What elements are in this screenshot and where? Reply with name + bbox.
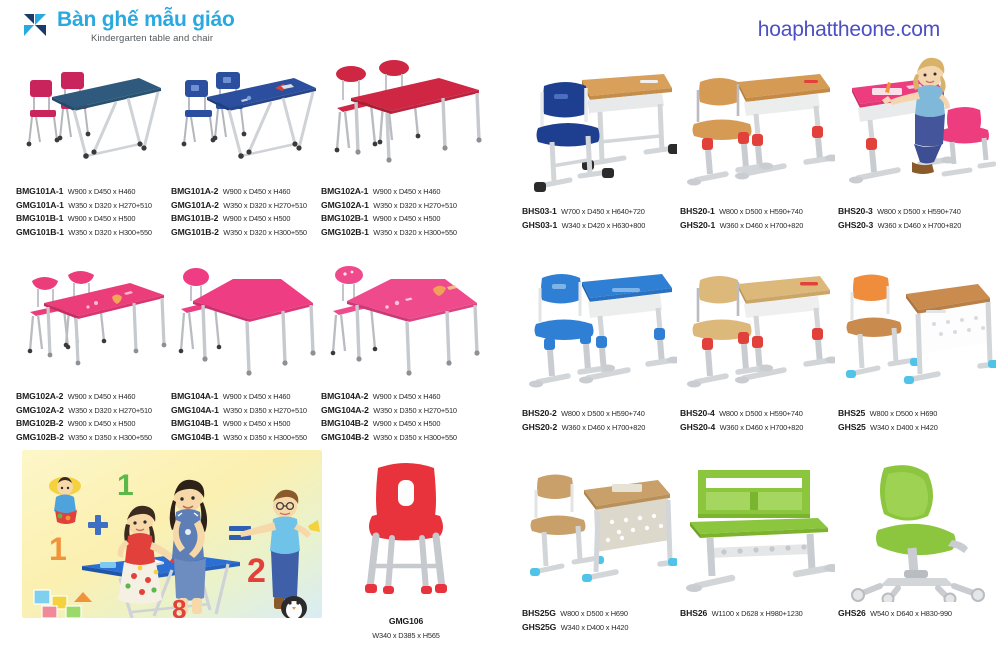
spec-code: BMG102A-2: [16, 391, 63, 401]
spec-code: BHS25: [838, 408, 865, 418]
spec-list: BHS03-1 W700 x D450 x H640+720 GHS03-1 W…: [522, 204, 677, 231]
spec-dim: W800 x D500 x H690: [870, 409, 938, 418]
svg-text:1: 1: [49, 531, 67, 567]
spec-row: GMG102B-1 W350 x D320 x H300+550: [321, 225, 486, 239]
spec-dim: W900 x D450 x H500: [223, 419, 291, 428]
spec-row: GMG104B-2 W350 x D350 x H300+550: [321, 430, 486, 444]
spec-dim: W340 x D400 x H420: [561, 623, 629, 632]
spec-code: GMG106: [389, 616, 423, 626]
product-image-red-plastic-chair: [326, 450, 486, 610]
spec-code: BHS20-2: [522, 408, 557, 418]
spec-dim: W340 x D385 x H565: [372, 631, 440, 640]
product-card-bhs25[interactable]: BHS25 W800 x D500 x H690 GHS25 W340 x D4…: [838, 252, 996, 433]
spec-row: BHS20-1 W800 x D500 x H590+740: [680, 204, 835, 218]
product-image-blue-printed-table-blue-chairs: [171, 52, 323, 180]
product-card-bmg102a1[interactable]: BMG102A-1 W900 x D450 x H460 GMG102A-1 W…: [321, 52, 486, 238]
spec-row: BMG102B-1 W900 x D450 x H500: [321, 211, 486, 225]
spec-dim: W800 x D500 x H590+740: [719, 207, 803, 216]
spec-row: BMG101A-1 W900 x D450 x H460: [16, 184, 168, 198]
spec-row: W340 x D385 x H565: [326, 628, 486, 642]
spec-dim: W900 x D450 x H460: [223, 392, 291, 401]
spec-dim: W350 x D320 x H300+550: [223, 228, 307, 237]
spec-dim: W340 x D400 x H420: [870, 423, 938, 432]
spec-code: GMG102B-2: [16, 432, 64, 442]
product-card-bhs20-3[interactable]: BHS20-3 W800 x D500 x H590+740 GHS20-3 W…: [838, 52, 996, 231]
spec-code: BHS03-1: [522, 206, 557, 216]
spec-code: BMG104B-2: [321, 418, 368, 428]
product-image-red-table-red-chairs: [321, 52, 486, 180]
spec-row: GHS25G W340 x D400 x H420: [522, 620, 677, 634]
product-card-ghs26[interactable]: GHS26 W540 x D640 x H830-990: [838, 452, 996, 620]
spec-row: GMG104A-2 W350 x D350 x H270+510: [321, 403, 486, 417]
spec-code: BHS20-4: [680, 408, 715, 418]
spec-dim: W900 x D450 x H500: [373, 419, 441, 428]
spec-code: BMG104B-1: [171, 418, 218, 428]
spec-row: GMG106: [326, 614, 486, 628]
spec-dim: W350 x D350 x H270+510: [223, 406, 307, 415]
spec-dim: W900 x D450 x H460: [373, 392, 441, 401]
spec-dim: W900 x D450 x H500: [223, 214, 291, 223]
spec-code: BMG104A-1: [171, 391, 218, 401]
product-image-pink-trapezoid-table: [171, 257, 323, 385]
spec-list: BHS26 W1100 x D628 x H980+1230: [680, 606, 835, 620]
spec-row: GMG102B-2 W350 x D350 x H300+550: [16, 430, 168, 444]
product-card-bmg101a2[interactable]: BMG101A-2 W900 x D450 x H460 GMG101A-2 W…: [171, 52, 323, 238]
spec-row: GHS20-2 W360 x D460 x H700+820: [522, 420, 677, 434]
spec-row: GMG104B-1 W350 x D350 x H300+550: [171, 430, 323, 444]
page-header: Bàn ghế mẫu giáo Kindergarten table and …: [0, 0, 1000, 52]
spec-row: BHS25 W800 x D500 x H690: [838, 406, 996, 420]
spec-dim: W350 x D320 x H270+510: [68, 406, 152, 415]
spec-code: BMG101B-1: [16, 213, 63, 223]
spec-code: BHS26: [680, 608, 707, 618]
spec-row: BHS20-4 W800 x D500 x H590+740: [680, 406, 835, 420]
spec-list: BHS20-3 W800 x D500 x H590+740 GHS20-3 W…: [838, 204, 996, 231]
spec-dim: W350 x D320 x H300+550: [373, 228, 457, 237]
pinwheel-logo-icon: [22, 12, 48, 38]
spec-row: BMG104A-2 W900 x D450 x H460: [321, 389, 486, 403]
product-card-bhs03-1[interactable]: BHS03-1 W700 x D450 x H640+720 GHS03-1 W…: [522, 52, 677, 231]
spec-code: GHS20-1: [680, 220, 715, 230]
product-image-pink-printed-trapezoid-table: [321, 257, 486, 385]
spec-row: BMG104B-1 W900 x D450 x H500: [171, 416, 323, 430]
spec-code: BMG104A-2: [321, 391, 368, 401]
product-card-bmg104a1[interactable]: BMG104A-1 W900 x D450 x H460 GMG104A-1 W…: [171, 257, 323, 443]
spec-code: GMG102A-1: [321, 200, 369, 210]
spec-list: GHS26 W540 x D640 x H830-990: [838, 606, 996, 620]
svg-text:8: 8: [172, 594, 186, 618]
spec-row: GMG102A-2 W350 x D320 x H270+510: [16, 403, 168, 417]
spec-dim: W350 x D320 x H270+510: [223, 201, 307, 210]
product-image-light-wood-adjustable-desk: [680, 252, 835, 402]
spec-code: BHS25G: [522, 608, 556, 618]
spec-code: GHS20-3: [838, 220, 873, 230]
product-image-blue-adjustable-desk: [522, 252, 677, 402]
product-image-green-desk-with-hutch: [680, 452, 835, 602]
spec-row: BMG102B-2 W900 x D450 x H500: [16, 416, 168, 430]
spec-dim: W350 x D320 x H270+510: [68, 201, 152, 210]
spec-code: BMG101A-2: [171, 186, 218, 196]
spec-dim: W350 x D350 x H300+550: [373, 433, 457, 442]
spec-dim: W900 x D450 x H460: [373, 187, 441, 196]
spec-row: GMG101B-1 W350 x D320 x H300+550: [16, 225, 168, 239]
product-image-wood-desk-perforated-panel: [522, 452, 677, 602]
spec-dim: W540 x D640 x H830-990: [870, 609, 952, 618]
product-image-blue-table-pink-chairs: [16, 52, 168, 180]
spec-row: BMG102A-1 W900 x D450 x H460: [321, 184, 486, 198]
spec-code: GHS25: [838, 422, 866, 432]
spec-code: BHS20-3: [838, 206, 873, 216]
product-card-bhs25g[interactable]: BHS25G W800 x D500 x H690 GHS25G W340 x …: [522, 452, 677, 633]
spec-row: GMG101B-2 W350 x D320 x H300+550: [171, 225, 323, 239]
spec-dim: W360 x D460 x H700+820: [720, 423, 804, 432]
spec-dim: W350 x D350 x H270+510: [373, 406, 457, 415]
spec-row: GHS26 W540 x D640 x H830-990: [838, 606, 996, 620]
spec-row: GMG102A-1 W350 x D320 x H270+510: [321, 198, 486, 212]
spec-row: BHS20-2 W800 x D500 x H590+740: [522, 406, 677, 420]
spec-list: BMG104A-2 W900 x D450 x H460 GMG104A-2 W…: [321, 389, 486, 443]
page-subtitle: Kindergarten table and chair: [91, 33, 235, 45]
spec-dim: W900 x D450 x H500: [68, 214, 136, 223]
spec-code: GMG102B-1: [321, 227, 369, 237]
spec-dim: W700 x D450 x H640+720: [561, 207, 645, 216]
product-card-bhs20-1[interactable]: BHS20-1 W800 x D500 x H590+740 GHS20-1 W…: [680, 52, 835, 231]
spec-list: BMG102A-1 W900 x D450 x H460 GMG102A-1 W…: [321, 184, 486, 238]
school-furniture-section: BHS03-1 W700 x D450 x H640+720 GHS03-1 W…: [512, 52, 1000, 664]
spec-row: BMG101B-2 W900 x D450 x H500: [171, 211, 323, 225]
spec-list: GMG106 W340 x D385 x H565: [326, 614, 486, 641]
product-image-wood-desk-navy-chair: [522, 52, 677, 200]
spec-dim: W800 x D500 x H590+740: [877, 207, 961, 216]
spec-code: GHS20-4: [680, 422, 715, 432]
spec-row: GMG104A-1 W350 x D350 x H270+510: [171, 403, 323, 417]
spec-code: BMG102A-1: [321, 186, 368, 196]
product-image-green-ergonomic-chair: [838, 452, 996, 602]
spec-row: BMG102A-2 W900 x D450 x H460: [16, 389, 168, 403]
spec-row: BMG104A-1 W900 x D450 x H460: [171, 389, 323, 403]
spec-dim: W340 x D420 x H630+800: [562, 221, 646, 230]
product-card-gmg106[interactable]: GMG106 W340 x D385 x H565: [326, 450, 486, 641]
brand-block: Bàn ghế mẫu giáo Kindergarten table and …: [22, 8, 235, 45]
spec-row: GHS20-3 W360 x D460 x H700+820: [838, 218, 996, 232]
product-image-pink-desk-with-child: [838, 52, 996, 200]
spec-row: BMG101A-2 W900 x D450 x H460: [171, 184, 323, 198]
spec-code: GMG101A-1: [16, 200, 64, 210]
spec-code: BMG102B-1: [321, 213, 368, 223]
page-title: Bàn ghế mẫu giáo: [57, 8, 235, 32]
spec-dim: W360 x D460 x H700+820: [720, 221, 804, 230]
spec-row: BMG101B-1 W900 x D450 x H500: [16, 211, 168, 225]
spec-list: BMG101A-1 W900 x D450 x H460 GMG101A-1 W…: [16, 184, 168, 238]
spec-dim: W800 x D500 x H590+740: [719, 409, 803, 418]
product-image-wood-desk-orange-chair: [838, 252, 996, 402]
product-card-bmg101a1[interactable]: BMG101A-1 W900 x D450 x H460 GMG101A-1 W…: [16, 52, 168, 238]
spec-row: GHS20-4 W360 x D460 x H700+820: [680, 420, 835, 434]
spec-dim: W900 x D450 x H500: [373, 214, 441, 223]
spec-code: GHS03-1: [522, 220, 557, 230]
spec-dim: W900 x D450 x H460: [223, 187, 291, 196]
website-url: hoaphattheone.com: [758, 18, 940, 42]
product-card-bmg102a2[interactable]: BMG102A-2 W900 x D450 x H460 GMG102A-2 W…: [16, 257, 168, 443]
spec-dim: W360 x D460 x H700+820: [878, 221, 962, 230]
svg-text:2: 2: [247, 552, 266, 590]
product-card-bmg104a2[interactable]: BMG104A-2 W900 x D450 x H460 GMG104A-2 W…: [321, 257, 486, 443]
spec-code: GMG102A-2: [16, 405, 64, 415]
spec-row: GHS20-1 W360 x D460 x H700+820: [680, 218, 835, 232]
spec-code: BHS20-1: [680, 206, 715, 216]
spec-code: GHS26: [838, 608, 866, 618]
spec-list: BMG104A-1 W900 x D450 x H460 GMG104A-1 W…: [171, 389, 323, 443]
spec-dim: W1100 x D628 x H980+1230: [712, 609, 803, 618]
spec-row: GHS25 W340 x D400 x H420: [838, 420, 996, 434]
spec-row: BMG104B-2 W900 x D450 x H500: [321, 416, 486, 430]
spec-row: BHS20-3 W800 x D500 x H590+740: [838, 204, 996, 218]
spec-code: GMG104A-2: [321, 405, 369, 415]
spec-list: BMG102A-2 W900 x D450 x H460 GMG102A-2 W…: [16, 389, 168, 443]
spec-dim: W800 x D500 x H590+740: [561, 409, 645, 418]
svg-text:1: 1: [117, 469, 134, 502]
spec-list: BHS20-1 W800 x D500 x H590+740 GHS20-1 W…: [680, 204, 835, 231]
spec-row: BHS25G W800 x D500 x H690: [522, 606, 677, 620]
product-card-bhs20-4[interactable]: BHS20-4 W800 x D500 x H590+740 GHS20-4 W…: [680, 252, 835, 433]
spec-code: GMG101B-2: [171, 227, 219, 237]
product-card-bhs26[interactable]: BHS26 W1100 x D628 x H980+1230: [680, 452, 835, 620]
product-card-bhs20-2[interactable]: BHS20-2 W800 x D500 x H590+740 GHS20-2 W…: [522, 252, 677, 433]
spec-code: GHS25G: [522, 622, 556, 632]
spec-dim: W350 x D320 x H300+550: [68, 228, 152, 237]
spec-list: BHS20-2 W800 x D500 x H590+740 GHS20-2 W…: [522, 406, 677, 433]
spec-code: GMG101A-2: [171, 200, 219, 210]
spec-list: BHS25 W800 x D500 x H690 GHS25 W340 x D4…: [838, 406, 996, 433]
spec-dim: W900 x D450 x H500: [68, 419, 136, 428]
spec-dim: W350 x D320 x H270+510: [373, 201, 457, 210]
product-image-wood-adjustable-desk-red-knobs: [680, 52, 835, 200]
spec-dim: W360 x D460 x H700+820: [562, 423, 646, 432]
spec-dim: W350 x D350 x H300+550: [223, 433, 307, 442]
spec-list: BHS25G W800 x D500 x H690 GHS25G W340 x …: [522, 606, 677, 633]
spec-row: BHS26 W1100 x D628 x H980+1230: [680, 606, 835, 620]
spec-code: GMG104A-1: [171, 405, 219, 415]
spec-code: GHS20-2: [522, 422, 557, 432]
spec-row: GMG101A-1 W350 x D320 x H270+510: [16, 198, 168, 212]
children-learning-illustration: 1 1 2: [22, 450, 322, 618]
spec-row: BHS03-1 W700 x D450 x H640+720: [522, 204, 677, 218]
spec-code: BMG101A-1: [16, 186, 63, 196]
spec-code: GMG104B-1: [171, 432, 219, 442]
kindergarten-section: BMG101A-1 W900 x D450 x H460 GMG101A-1 W…: [8, 52, 508, 664]
spec-list: BMG101A-2 W900 x D450 x H460 GMG101A-2 W…: [171, 184, 323, 238]
spec-code: BMG102B-2: [16, 418, 63, 428]
spec-code: GMG101B-1: [16, 227, 64, 237]
spec-list: BHS20-4 W800 x D500 x H590+740 GHS20-4 W…: [680, 406, 835, 433]
spec-code: GMG104B-2: [321, 432, 369, 442]
spec-dim: W900 x D450 x H460: [68, 392, 136, 401]
spec-code: BMG101B-2: [171, 213, 218, 223]
spec-dim: W350 x D350 x H300+550: [68, 433, 152, 442]
spec-dim: W900 x D450 x H460: [68, 187, 136, 196]
catalog-page: Bàn ghế mẫu giáo Kindergarten table and …: [0, 0, 1000, 664]
spec-dim: W800 x D500 x H690: [560, 609, 628, 618]
spec-row: GHS03-1 W340 x D420 x H630+800: [522, 218, 677, 232]
product-image-pink-printed-table-pink-chairs: [16, 257, 168, 385]
spec-row: GMG101A-2 W350 x D320 x H270+510: [171, 198, 323, 212]
